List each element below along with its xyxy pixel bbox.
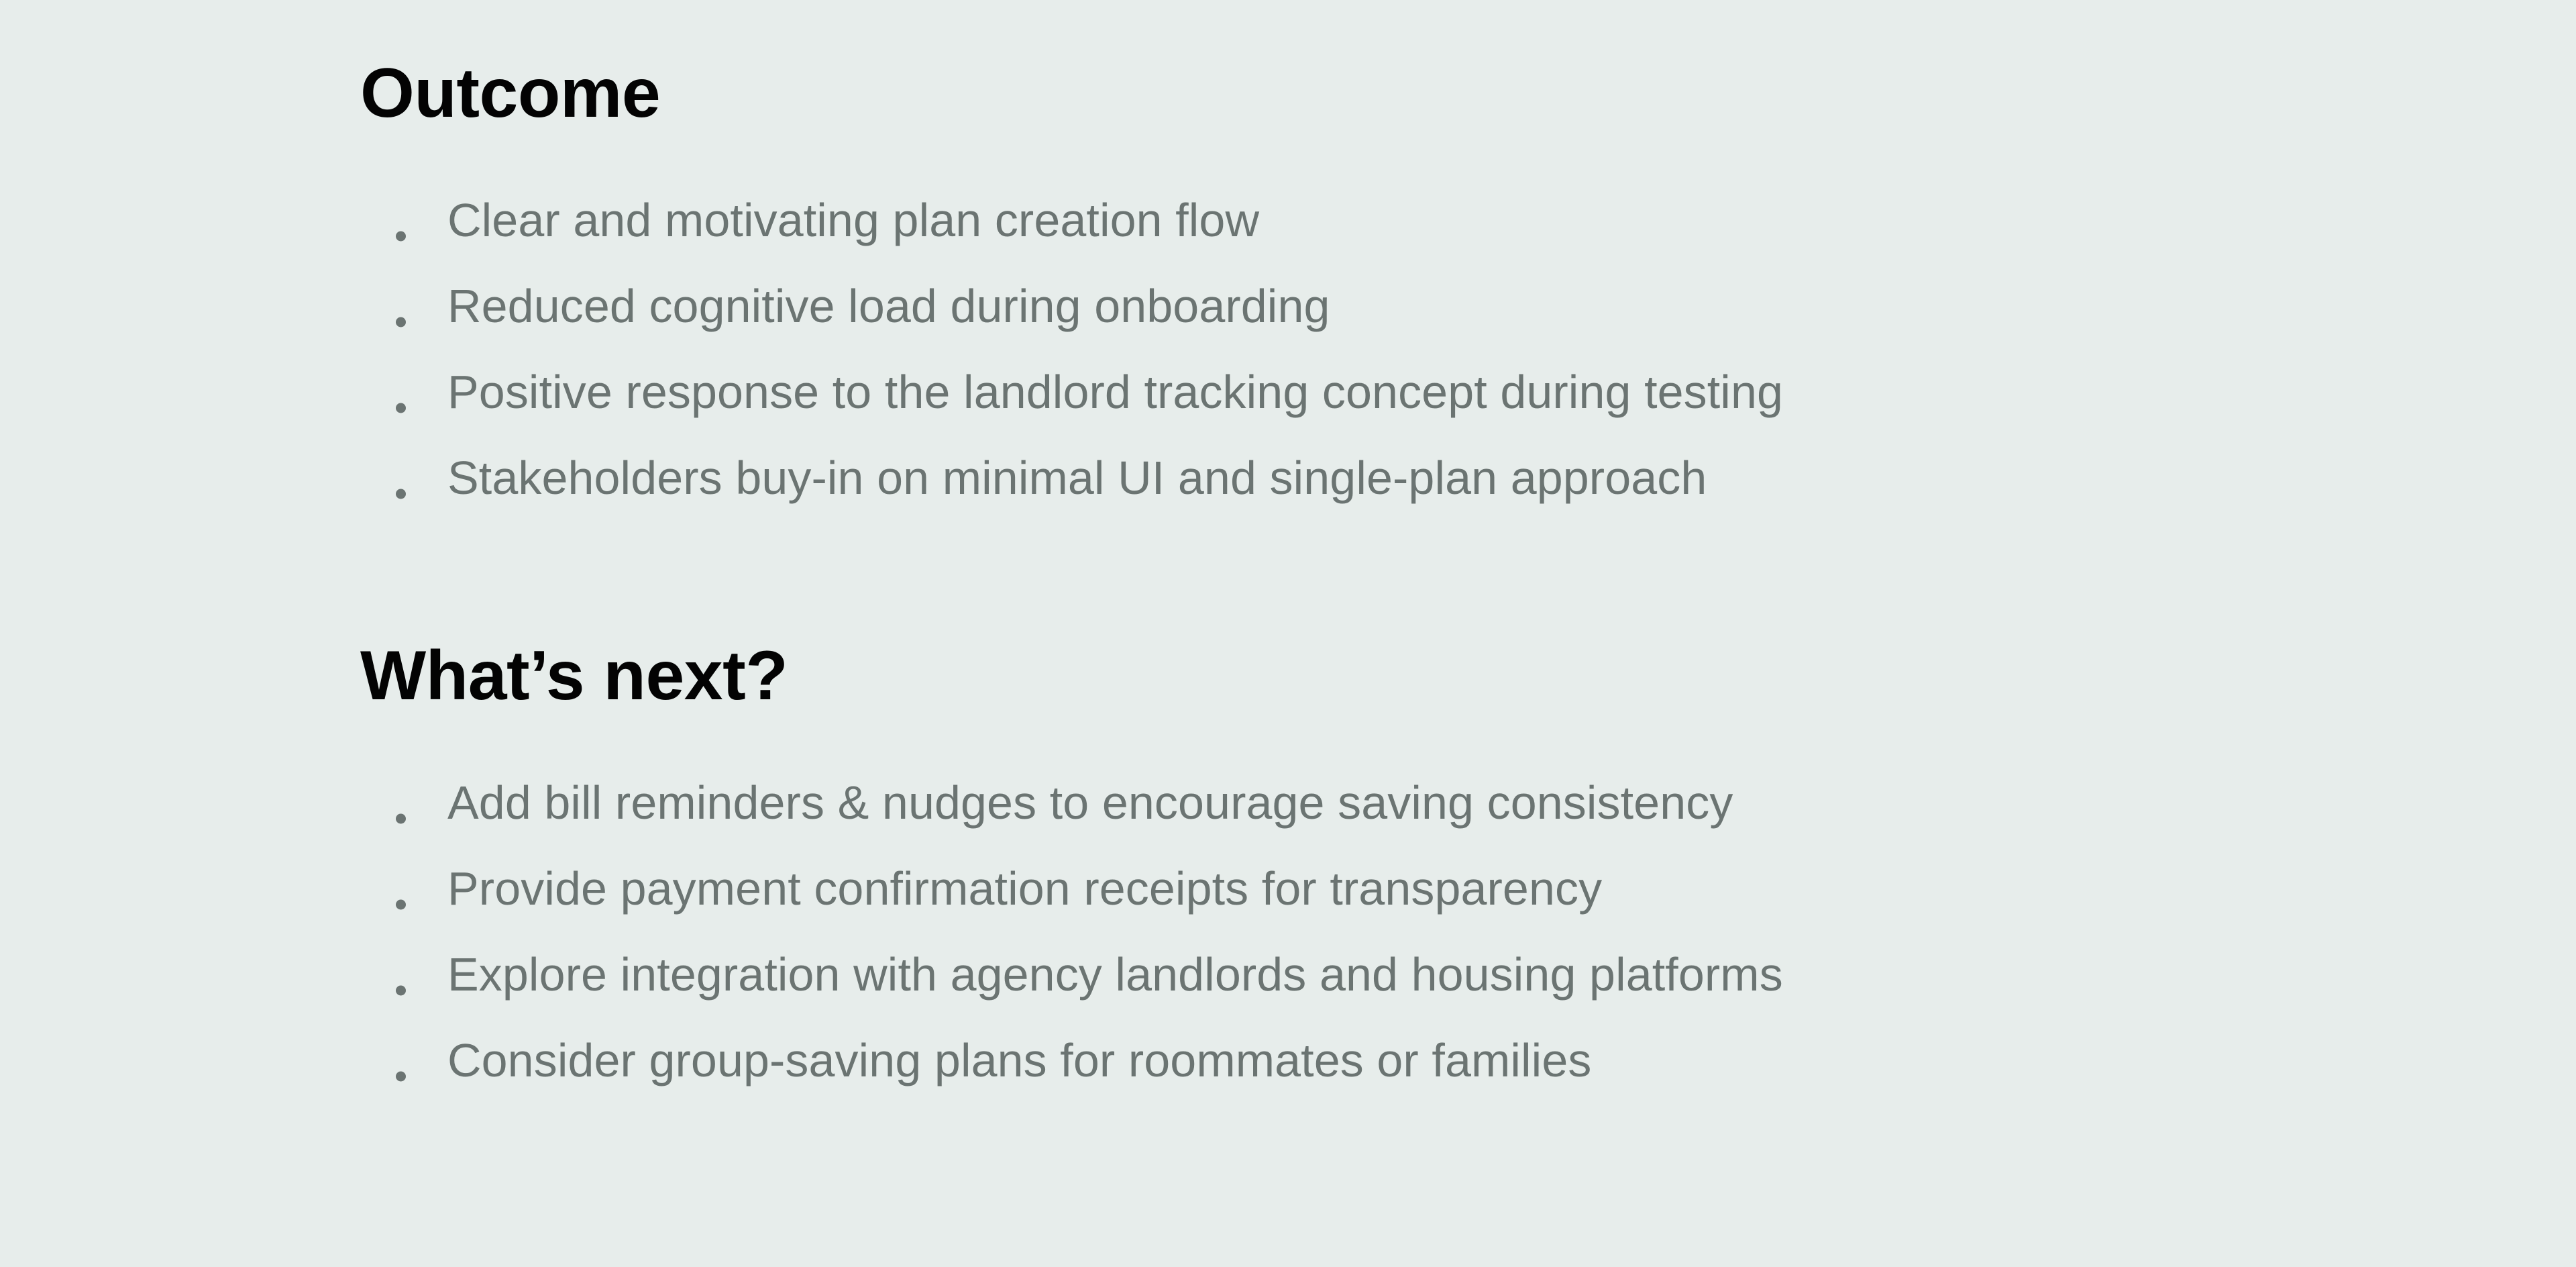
section-outcome: Outcome Clear and motivating plan creati… xyxy=(360,58,2576,521)
section-heading-outcome: Outcome xyxy=(360,58,2576,129)
list-item-label: Explore integration with agency landlord… xyxy=(447,931,1783,1017)
list-item-label: Add bill reminders & nudges to encourage… xyxy=(447,760,1733,846)
section-whats-next: What’s next? Add bill reminders & nudges… xyxy=(360,640,2576,1103)
slide-canvas: Outcome Clear and motivating plan creati… xyxy=(0,0,2576,1267)
list-item-label: Consider group-saving plans for roommate… xyxy=(447,1017,1591,1103)
list-item-label: Positive response to the landlord tracki… xyxy=(447,349,1783,435)
list-item: Add bill reminders & nudges to encourage… xyxy=(396,760,2576,846)
list-item-label: Provide payment confirmation receipts fo… xyxy=(447,846,1602,931)
list-item: Clear and motivating plan creation flow xyxy=(396,177,2576,263)
list-item: Provide payment confirmation receipts fo… xyxy=(396,846,2576,931)
bullet-list-outcome: Clear and motivating plan creation flow … xyxy=(396,177,2576,521)
list-item: Consider group-saving plans for roommate… xyxy=(396,1017,2576,1103)
list-item-label: Reduced cognitive load during onboarding xyxy=(447,263,1330,349)
list-item-label: Clear and motivating plan creation flow xyxy=(447,177,1259,263)
list-item: Reduced cognitive load during onboarding xyxy=(396,263,2576,349)
section-heading-whats-next: What’s next? xyxy=(360,640,2576,711)
bullet-list-whats-next: Add bill reminders & nudges to encourage… xyxy=(396,760,2576,1103)
list-item: Positive response to the landlord tracki… xyxy=(396,349,2576,435)
list-item-label: Stakeholders buy-in on minimal UI and si… xyxy=(447,435,1707,521)
list-item: Stakeholders buy-in on minimal UI and si… xyxy=(396,435,2576,521)
list-item: Explore integration with agency landlord… xyxy=(396,931,2576,1017)
